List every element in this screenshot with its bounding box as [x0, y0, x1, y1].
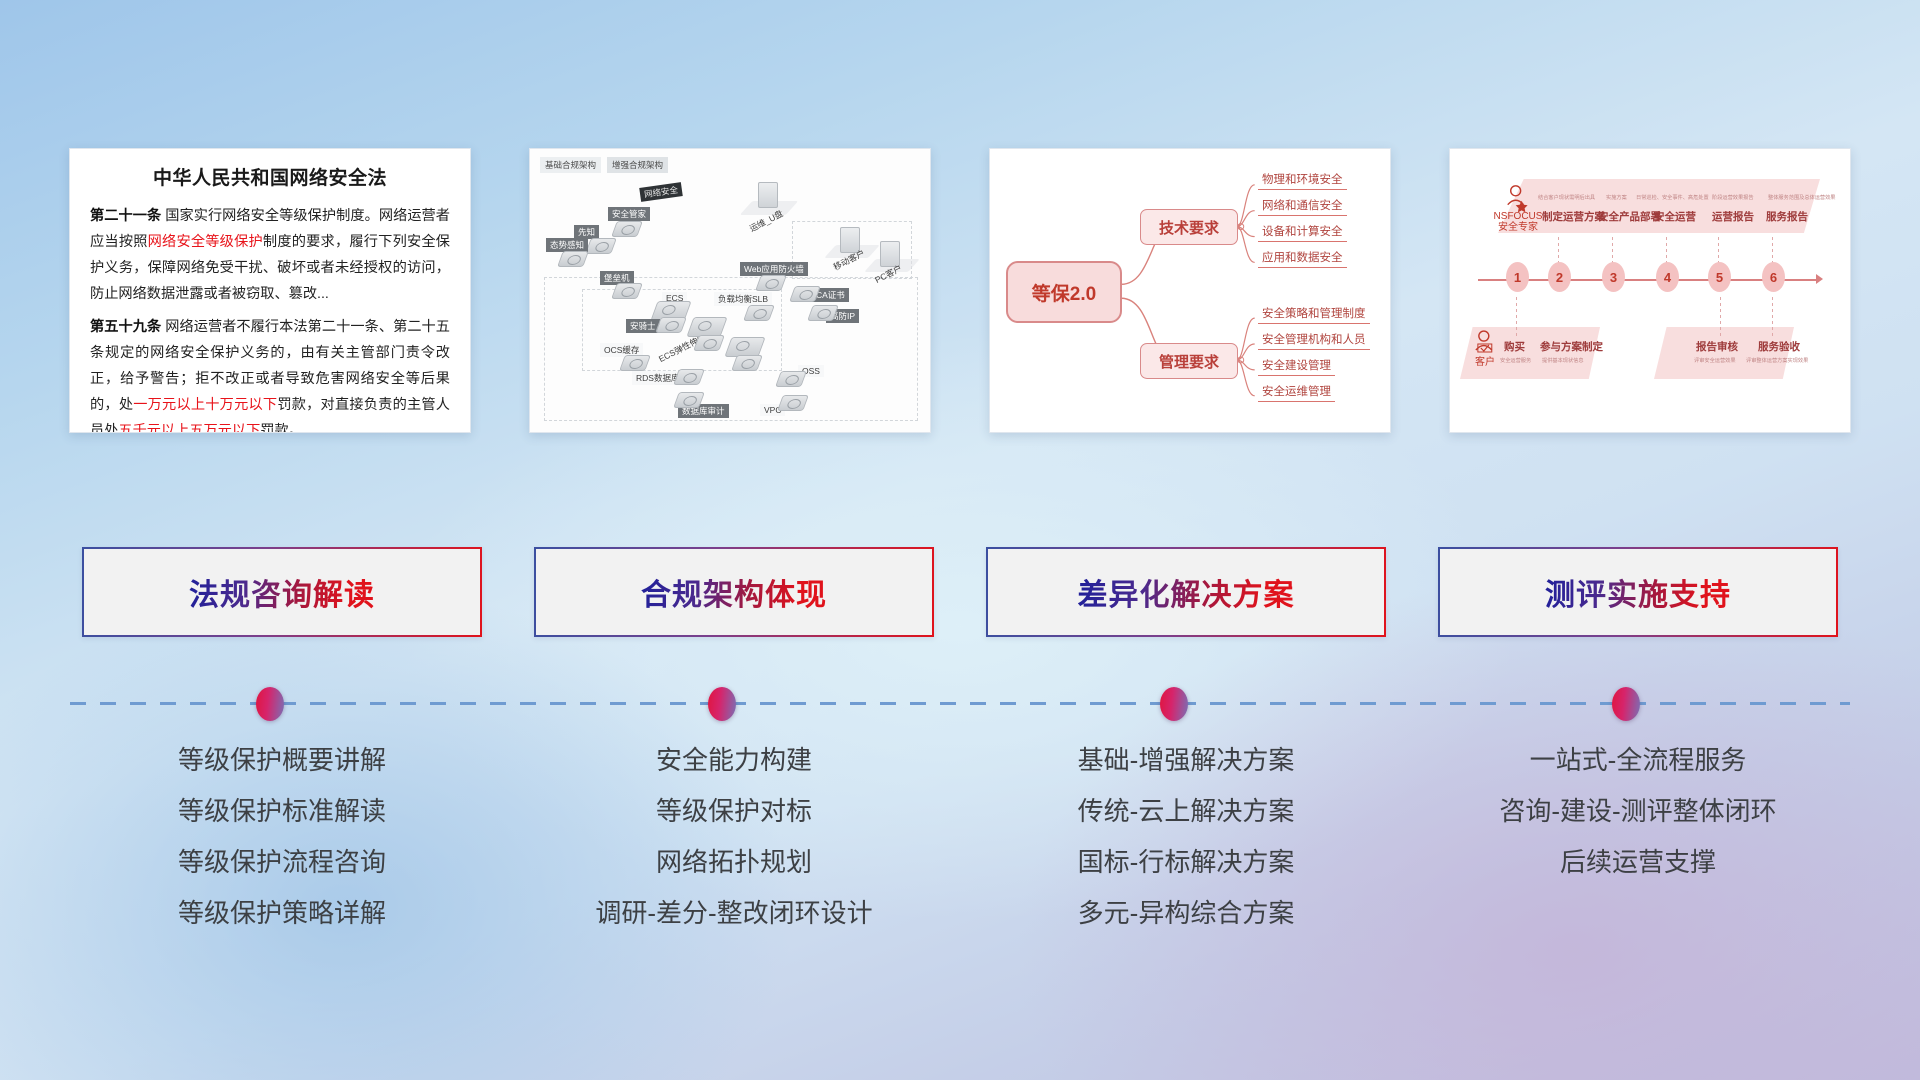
law-article-59-label: 第五十九条: [90, 319, 161, 335]
tab-enhanced-architecture[interactable]: 增强合规架构: [607, 157, 668, 173]
tab-basic-architecture[interactable]: 基础合规架构: [540, 157, 601, 173]
law-article-21: 第二十一条 国家实行网络安全等级保护制度。网络运营者应当按照网络安全等级保护制度…: [90, 203, 450, 307]
list-item: 安全能力构建: [534, 735, 934, 786]
card-cloud-architecture[interactable]: 基础合规架构 增强合规架构 网络安全 安全管家 先知 态势感知 堡垒机 运维_U…: [529, 148, 931, 433]
timeline-node-4[interactable]: [1612, 687, 1640, 721]
detail-list-compliance-architecture: 安全能力构建 等级保护对标 网络拓扑规划 调研-差分-整改闭环设计: [534, 735, 934, 939]
list-item: 网络拓扑规划: [534, 837, 934, 888]
detail-lists-row: 等级保护概要讲解 等级保护标准解读 等级保护流程咨询 等级保护策略详解 安全能力…: [0, 735, 1920, 939]
nsfocus-icons: [1450, 149, 1850, 433]
nsfocus-tick-5: [1718, 237, 1719, 265]
nsfocus-top-sub-1: 结合客户现状需明后出具: [1538, 194, 1595, 201]
detail-list-evaluation-support: 一站式-全流程服务 咨询-建设-测评整体闭环 后续运营支撑: [1438, 735, 1838, 939]
nsfocus-marker-1: 1: [1506, 262, 1529, 292]
nsfocus-tick-4: [1666, 237, 1667, 265]
nsfocus-top-title-3: 安全运营: [1654, 209, 1696, 224]
list-item: 一站式-全流程服务: [1438, 735, 1838, 786]
law-article-59: 第五十九条 网络运营者不履行本法第二十一条、第二十五条规定的网络安全保护义务的，…: [90, 314, 450, 433]
timeline-node-2[interactable]: [708, 687, 736, 721]
law-article-21-highlight: 网络安全等级保护: [148, 234, 263, 250]
architecture-node-security-butler: [611, 221, 643, 237]
list-item: 等级保护标准解读: [82, 786, 482, 837]
headline-box-compliance-architecture[interactable]: 合规架构体现: [534, 547, 934, 637]
nsfocus-top-sub-5: 整体服务范围及总体运营效果: [1768, 194, 1835, 201]
nsfocus-expert-line2: 安全专家: [1498, 222, 1538, 233]
mindmap-leaf-physical-env: 物理和环境安全: [1258, 171, 1347, 190]
nsfocus-bottom-sub-3: 评审安全运营效果: [1694, 357, 1736, 364]
mindmap-leaf-construction-mgmt: 安全建设管理: [1258, 357, 1335, 376]
headline-label-differentiated-solution: 差异化解决方案: [1078, 570, 1295, 614]
nsfocus-top-title-4: 运营报告: [1712, 209, 1754, 224]
nsfocus-bottom-title-2: 参与方案制定: [1540, 339, 1603, 354]
nsfocus-top-sub-3: 日常巡检、安全事件、高危处置: [1636, 194, 1709, 201]
nsfocus-tick-1: [1516, 297, 1517, 339]
architecture-node-scaling-3: [724, 337, 765, 357]
timeline-dashed-rule: [70, 702, 1850, 705]
law-article-59-highlight-a: 一万元以上十万元以下: [133, 397, 277, 413]
list-item: 等级保护概要讲解: [82, 735, 482, 786]
headline-label-evaluation-support: 测评实施支持: [1545, 570, 1731, 614]
architecture-label-network-security: 网络安全: [639, 182, 683, 202]
nsfocus-marker-2: 2: [1548, 262, 1571, 292]
nsfocus-top-title-5: 服务报告: [1766, 209, 1808, 224]
detail-list-regulation-consulting: 等级保护概要讲解 等级保护标准解读 等级保护流程咨询 等级保护策略详解: [82, 735, 482, 939]
headline-label-regulation-consulting: 法规咨询解读: [189, 570, 375, 614]
law-article-59-text-c: 罚款。: [260, 423, 303, 433]
list-item: 基础-增强解决方案: [986, 735, 1386, 786]
nsfocus-tick-3: [1612, 237, 1613, 265]
nsfocus-customer-text: 客户: [1475, 357, 1495, 368]
preview-cards-row: 中华人民共和国网络安全法 第二十一条 国家实行网络安全等级保护制度。网络运营者应…: [0, 148, 1920, 433]
nsfocus-tick-7: [1720, 297, 1721, 339]
nsfocus-bottom-title-1: 购买: [1504, 339, 1525, 354]
mindmap-branch-management: 管理要求: [1140, 343, 1238, 379]
architecture-label-slb: 负载均衡SLB: [714, 292, 772, 306]
nsfocus-bottom-sub-4: 评审整体运营方案实现效果: [1746, 357, 1808, 364]
nsfocus-expert-label: NSFOCUS 安全专家: [1490, 211, 1546, 233]
architecture-node-situational-awareness: [557, 251, 589, 267]
mindmap-leaf-network-comm: 网络和通信安全: [1258, 197, 1347, 216]
list-item: 等级保护策略详解: [82, 888, 482, 939]
headline-box-evaluation-support[interactable]: 测评实施支持: [1438, 547, 1838, 637]
nsfocus-marker-4: 4: [1656, 262, 1679, 292]
headline-box-differentiated-solution[interactable]: 差异化解决方案: [986, 547, 1386, 637]
nsfocus-expert-line1: NSFOCUS: [1494, 211, 1543, 222]
headline-boxes-row: 法规咨询解读 合规架构体现 差异化解决方案 测评实施支持: [0, 547, 1920, 637]
architecture-label-waf: Web应用防火墙: [740, 262, 808, 276]
list-item: 等级保护流程咨询: [82, 837, 482, 888]
timeline-connector: [0, 683, 1920, 723]
list-item: 调研-差分-整改闭环设计: [534, 888, 934, 939]
nsfocus-marker-5: 5: [1708, 262, 1731, 292]
detail-list-differentiated-solution: 基础-增强解决方案 传统-云上解决方案 国标-行标解决方案 多元-异构综合方案: [986, 735, 1386, 939]
nsfocus-tick-6: [1772, 237, 1773, 265]
list-item: 后续运营支撑: [1438, 837, 1838, 888]
list-item: 多元-异构综合方案: [986, 888, 1386, 939]
mindmap-leaf-device-compute: 设备和计算安全: [1258, 223, 1347, 242]
timeline-node-3[interactable]: [1160, 687, 1188, 721]
nsfocus-tick-2: [1558, 237, 1559, 265]
architecture-label-situational-awareness: 态势感知: [546, 238, 588, 252]
law-title: 中华人民共和国网络安全法: [90, 163, 450, 190]
nsfocus-top-title-2: 安全产品部署: [1598, 209, 1661, 224]
list-item: 等级保护对标: [534, 786, 934, 837]
list-item: 国标-行标解决方案: [986, 837, 1386, 888]
nsfocus-top-title-1: 制定运营方案: [1542, 209, 1605, 224]
card-cybersecurity-law[interactable]: 中华人民共和国网络安全法 第二十一条 国家实行网络安全等级保护制度。网络运营者应…: [69, 148, 471, 433]
nsfocus-axis-arrow-icon: [1816, 274, 1823, 284]
architecture-node-scaling-1: [686, 317, 727, 337]
headline-box-regulation-consulting[interactable]: 法规咨询解读: [82, 547, 482, 637]
card-mindmap-dengbao[interactable]: 等保2.0 技术要求 物理和环境安全 网络和通信安全 设备和计算安全 应用和数据…: [989, 148, 1391, 433]
nsfocus-tick-8: [1772, 297, 1773, 339]
timeline-node-1[interactable]: [256, 687, 284, 721]
mindmap-branch-technical: 技术要求: [1140, 209, 1238, 245]
nsfocus-bottom-sub-2: 提供基本现状信息: [1542, 357, 1584, 364]
mindmap-leaf-org-personnel: 安全管理机构和人员: [1258, 331, 1370, 350]
nsfocus-customer-label: 客户: [1470, 357, 1500, 368]
architecture-label-security-butler: 安全管家: [608, 207, 650, 221]
nsfocus-top-sub-2: 实施方案: [1606, 194, 1627, 201]
headline-label-compliance-architecture: 合规架构体现: [641, 570, 827, 614]
nsfocus-bottom-sub-1: 安全运营服务: [1500, 357, 1531, 364]
nsfocus-bottom-title-4: 服务验收: [1758, 339, 1800, 354]
architecture-label-anqishi: 安骑士: [626, 319, 660, 333]
architecture-tabs: 基础合规架构 增强合规架构: [540, 157, 668, 173]
architecture-node-xianzhi: [585, 238, 617, 254]
nsfocus-top-sub-4: 阶段运营效果报告: [1712, 194, 1754, 201]
law-article-59-highlight-b: 五千元以上五万元以下: [118, 423, 260, 433]
law-article-21-label: 第二十一条: [90, 208, 161, 224]
nsfocus-marker-6: 6: [1762, 262, 1785, 292]
card-nsfocus-service-timeline[interactable]: NSFOCUS 安全专家 客户 结合客户现状需明后出具 制定运营方案 实施方案 …: [1449, 148, 1851, 433]
nsfocus-marker-3: 3: [1602, 262, 1625, 292]
list-item: 传统-云上解决方案: [986, 786, 1386, 837]
mindmap-leaf-app-data: 应用和数据安全: [1258, 249, 1347, 268]
architecture-server-ops-usb: [758, 182, 778, 208]
list-item: 咨询-建设-测评整体闭环: [1438, 786, 1838, 837]
architecture-label-xianzhi: 先知: [574, 225, 599, 239]
mindmap-leaf-ops-mgmt: 安全运维管理: [1258, 383, 1335, 402]
mindmap-leaf-policy-system: 安全策略和管理制度: [1258, 305, 1370, 324]
mindmap-root: 等保2.0: [1006, 261, 1122, 323]
nsfocus-bottom-title-3: 报告审核: [1696, 339, 1738, 354]
